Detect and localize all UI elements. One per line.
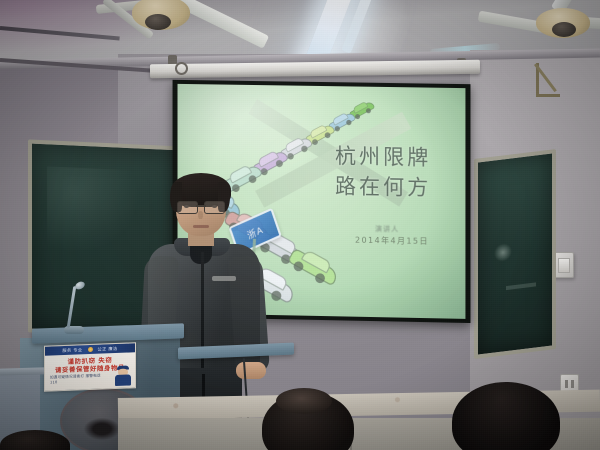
ceiling-fan-left	[92, 0, 252, 52]
wall-bracket-icon	[536, 63, 560, 97]
light-switch-button[interactable]	[558, 258, 570, 273]
audience-head-highlight	[276, 388, 332, 414]
fan-hub-cap	[552, 22, 576, 37]
side-desk-top	[0, 367, 44, 375]
police-officer-icon	[114, 365, 132, 386]
presenter-mouth	[193, 225, 209, 228]
screen-pull-ring-icon[interactable]	[175, 62, 188, 75]
police-badge-icon	[88, 347, 93, 352]
emblem-bird-icon	[84, 418, 120, 440]
blackboard-right	[474, 149, 556, 359]
security-notice-poster: 服务 专业 公正 廉洁 谨防扒窃 失窃 请妥善保管好随身物品 如遇可疑情况请拨打…	[44, 342, 136, 392]
presenter-nose	[198, 211, 203, 219]
poster-banner-right: 公正 廉洁	[98, 345, 118, 352]
presenter-jacket-logo	[212, 276, 236, 281]
classroom-photo-scene: 浙A 杭州限牌 路在何方 演讲人 2014年4月15日	[0, 0, 600, 450]
poster-subtext: 如遇可疑情况请拨打 报警电话 110	[50, 373, 104, 386]
poster-banner-left: 服务 专业	[62, 347, 82, 354]
chalk-mark	[506, 282, 536, 290]
ceiling-fan-right	[500, 0, 600, 52]
fan-hub-cap	[145, 14, 171, 30]
blackboard-sheen	[47, 166, 139, 255]
presenter-hand-right	[236, 362, 266, 379]
chalk-mark	[494, 243, 512, 263]
